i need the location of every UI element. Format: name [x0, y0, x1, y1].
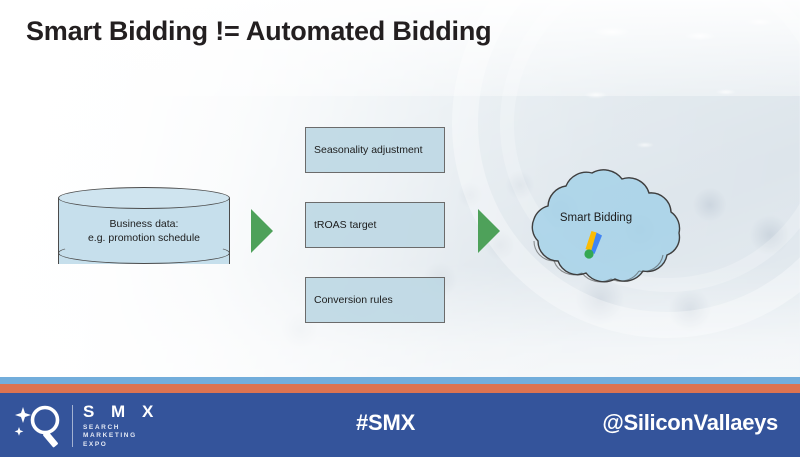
- input-box-seasonality-adjustment: Seasonality adjustment: [305, 127, 445, 173]
- cylinder-bottom-ellipse: [58, 242, 230, 264]
- input-box-label: tROAS target: [306, 219, 376, 231]
- smx-logo: S M X SEARCH MARKETING EXPO: [14, 398, 174, 454]
- smx-tagline-line2: MARKETING: [83, 432, 159, 441]
- smart-bidding-cloud: Smart Bidding: [508, 168, 684, 292]
- footer-twitter-handle: @SiliconVallaeys: [602, 410, 778, 436]
- input-box-conversion-rules: Conversion rules: [305, 277, 445, 323]
- smx-tagline-line3: EXPO: [83, 441, 159, 450]
- cylinder-label: Business data: e.g. promotion schedule: [58, 217, 230, 245]
- cylinder-label-line2: e.g. promotion schedule: [58, 231, 230, 245]
- background-top-fade: [0, 0, 800, 96]
- slide-title: Smart Bidding != Automated Bidding: [26, 16, 491, 47]
- google-ads-logo: [580, 230, 614, 260]
- smx-logo-divider: [72, 405, 73, 447]
- magnifying-glass-icon: [14, 401, 68, 451]
- business-data-cylinder: Business data: e.g. promotion schedule: [58, 187, 230, 275]
- smx-tagline-line1: SEARCH: [83, 424, 159, 433]
- smx-tagline: SEARCH MARKETING EXPO: [83, 424, 159, 450]
- slide-canvas: Smart Bidding != Automated Bidding Busin…: [0, 0, 800, 457]
- cylinder-top-ellipse: [58, 187, 230, 209]
- footer-hashtag: #SMX: [356, 410, 415, 436]
- input-box-troas-target: tROAS target: [305, 202, 445, 248]
- smx-logo-text: S M X SEARCH MARKETING EXPO: [83, 403, 159, 450]
- smx-wordmark: S M X: [83, 403, 159, 421]
- cloud-label: Smart Bidding: [508, 212, 684, 224]
- triangle-right-icon: [251, 209, 273, 253]
- cylinder-label-line1: Business data:: [58, 217, 230, 231]
- input-box-label: Seasonality adjustment: [306, 144, 423, 156]
- triangle-right-icon: [478, 209, 500, 253]
- footer-bar-light-blue: [0, 377, 800, 384]
- footer-bar-orange: [0, 384, 800, 393]
- input-box-label: Conversion rules: [306, 294, 393, 306]
